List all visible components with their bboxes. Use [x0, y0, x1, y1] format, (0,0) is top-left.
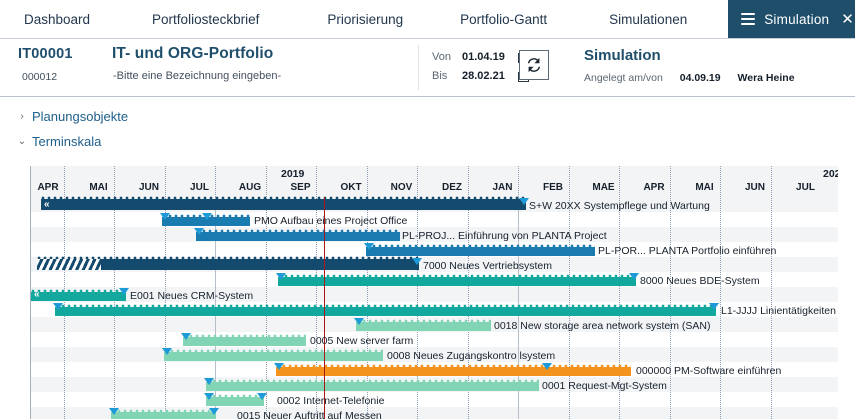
date-from-row: Von 01.04.19 [432, 51, 529, 63]
gantt-row[interactable]: 7000 Neues Vertriebsystem [31, 257, 838, 272]
gantt-bar[interactable] [164, 352, 383, 361]
gantt-row[interactable]: 000000 PM-Software einführen [31, 362, 838, 377]
month-label: JUN [123, 182, 175, 193]
month-label: OKT [325, 182, 377, 193]
portfolio-identity-block: IT00001 IT- und ORG-Portfolio 000012 -Bi… [0, 39, 418, 96]
gantt-bar[interactable] [41, 199, 526, 210]
gantt-row[interactable]: 0001 Request-Mgt-System [31, 377, 838, 392]
gantt-rows[interactable]: «S+W 20XX Systempflege und WartungPMO Au… [31, 197, 838, 419]
created-by: Wera Heine [738, 72, 795, 84]
gantt-time-scale: 20192020APRMAIJUNJULAUGSEPOKTNOVDEZJANFE… [31, 166, 838, 198]
bar-progress-dots [111, 409, 216, 414]
chevron-right-icon: › [16, 111, 28, 122]
gantt-bar[interactable] [206, 397, 264, 406]
gantt-row[interactable]: 8000 Neues BDE-System [31, 272, 838, 287]
gantt-bar-label: 0001 Request-Mgt-System [542, 380, 667, 392]
month-label: FEB [527, 182, 579, 193]
month-label: NOV [376, 182, 428, 193]
today-marker-line [324, 197, 325, 419]
month-label: APR [30, 182, 74, 193]
gantt-row[interactable]: 0008 Neues Zugangskontro lsystem [31, 347, 838, 362]
bar-progress-dots [55, 304, 716, 309]
grid-line [771, 166, 772, 419]
milestone-end-marker [519, 198, 529, 205]
section-planungsobjekte-label: Planungsobjekte [32, 109, 128, 124]
bar-progress-dots [31, 289, 126, 294]
tab-priorisierung[interactable]: Priorisierung [327, 0, 403, 38]
month-label: JUL [780, 182, 832, 193]
created-date: 04.09.19 [680, 72, 721, 84]
gantt-bar-label: S+W 20XX Systempflege und Wartung [529, 200, 710, 212]
tab-simulation-active[interactable]: Simulation ✕ [728, 0, 855, 38]
section-terminskala[interactable]: ⌄ Terminskala [0, 129, 855, 153]
gantt-bar[interactable] [356, 322, 491, 331]
gantt-bar[interactable] [55, 307, 716, 316]
gantt-row[interactable]: «E001 Neues CRM-System [31, 287, 838, 302]
bar-progress-dots [276, 364, 631, 369]
milestone-mid-marker [542, 363, 552, 370]
bar-progress-dots [278, 274, 636, 279]
gantt-bar-label: 0005 New server farm [310, 335, 413, 347]
bar-progress-dots [41, 196, 526, 201]
month-label: MAI [679, 182, 731, 193]
date-to-value[interactable]: 28.02.21 [462, 70, 518, 82]
gantt-row[interactable]: PMO Aufbau eines Project Office [31, 212, 838, 227]
month-label: JUN [729, 182, 781, 193]
month-label: AUG [224, 182, 276, 193]
gantt-bar-label: 8000 Neues BDE-System [640, 275, 760, 287]
gantt-row[interactable]: 0002 Internet-Telefonie [31, 392, 838, 407]
date-to-row: Bis 28.02.21 [432, 70, 529, 82]
top-navigation-bar: Dashboard Portfoliosteckbrief Priorisier… [0, 0, 855, 39]
gantt-bar-label: E001 Neues CRM-System [130, 290, 253, 302]
gantt-row[interactable]: L1-JJJJ Linientätigkeiten JJJJ [31, 302, 838, 317]
milestone-start-marker [204, 393, 214, 400]
section-terminskala-label: Terminskala [32, 134, 101, 149]
milestone-start-marker [160, 213, 170, 220]
gantt-bar[interactable] [31, 292, 126, 301]
year-label: 2020 [823, 168, 838, 180]
milestone-start-marker [274, 363, 284, 370]
milestone-end-marker [119, 288, 129, 295]
date-from-value[interactable]: 01.04.19 [462, 51, 518, 63]
gantt-bar[interactable] [206, 382, 539, 391]
gantt-bar[interactable] [111, 412, 216, 419]
milestone-start-marker [53, 303, 63, 310]
milestone-end-marker [257, 393, 267, 400]
tab-simulationen[interactable]: Simulationen [609, 0, 687, 38]
month-label: JAN [477, 182, 529, 193]
section-planungsobjekte[interactable]: › Planungsobjekte [0, 104, 855, 128]
portfolio-sub-id: 000012 [22, 71, 57, 83]
portfolio-subtitle[interactable]: -Bitte eine Bezeichnung eingeben- [113, 70, 281, 82]
milestone-start-marker [181, 333, 191, 340]
hamburger-menu-icon[interactable] [741, 13, 755, 25]
tab-portfolio-gantt[interactable]: Portfolio-Gantt [460, 0, 547, 38]
month-label: APR [628, 182, 680, 193]
gantt-bar[interactable] [366, 247, 595, 256]
simulation-created-meta: Angelegt am/von 04.09.19 Wera Heine [584, 72, 795, 84]
month-label: SEP [275, 182, 327, 193]
bar-progress-dots [206, 394, 264, 399]
gantt-bar[interactable] [276, 367, 631, 376]
milestone-end-marker [209, 408, 219, 415]
refresh-sync-icon[interactable] [519, 50, 549, 80]
milestone-end-marker [412, 258, 422, 265]
bar-progress-dots [206, 379, 539, 384]
created-label: Angelegt am/von [584, 72, 663, 84]
milestone-start-marker [364, 243, 374, 250]
gantt-bar-label: PMO Aufbau eines Project Office [254, 215, 407, 227]
page-title: IT- und ORG-Portfolio [112, 45, 273, 63]
nav-tab-list: Dashboard Portfoliosteckbrief Priorisier… [0, 0, 687, 38]
gantt-chart[interactable]: 20192020APRMAIJUNJULAUGSEPOKTNOVDEZJANFE… [30, 166, 838, 419]
gantt-row[interactable]: PL-PROJ... Einführung von PLANTA Project [31, 227, 838, 242]
bar-progress-dots [196, 229, 400, 234]
tab-simulation-label: Simulation [764, 12, 829, 27]
month-label: MAE [578, 182, 630, 193]
gantt-bar-label: 0008 Neues Zugangskontro lsystem [387, 350, 555, 362]
gantt-bar-label: 0018 New storage area network system (SA… [494, 320, 711, 332]
close-icon[interactable]: ✕ [841, 12, 854, 27]
scroll-back-icon[interactable]: « [44, 199, 48, 210]
milestone-start-marker [162, 348, 172, 355]
year-label: 2019 [281, 168, 304, 180]
gantt-row[interactable]: «S+W 20XX Systempflege und Wartung [31, 197, 838, 212]
scroll-back-icon[interactable]: « [34, 289, 38, 300]
date-to-label: Bis [432, 70, 462, 82]
month-label: JUL [174, 182, 226, 193]
gantt-bar-label: PL-POR... PLANTA Portfolio einführen [598, 245, 776, 257]
tab-dashboard[interactable]: Dashboard [24, 0, 90, 38]
gantt-bar-label: 0002 Internet-Telefonie [277, 395, 384, 407]
gantt-row[interactable]: PL-POR... PLANTA Portfolio einführen [31, 242, 838, 257]
bar-progress-dots [356, 319, 491, 324]
milestone-end-marker [629, 273, 639, 280]
month-label: DEZ [426, 182, 478, 193]
gantt-bar-label: 7000 Neues Vertriebsystem [423, 260, 552, 272]
gantt-bar-label: PL-PROJ... Einführung von PLANTA Project [402, 230, 607, 242]
gantt-bar-label: 0015 Neuer Auftritt auf Messen [237, 410, 382, 419]
portfolio-id: IT00001 [18, 46, 73, 62]
gantt-row[interactable]: 0018 New storage area network system (SA… [31, 317, 838, 332]
milestone-start-marker [276, 273, 286, 280]
gantt-bar[interactable] [278, 277, 636, 286]
milestone-start-marker [109, 408, 119, 415]
bar-progress-dots [366, 244, 595, 249]
gantt-bar-label: L1-JJJJ Linientätigkeiten JJJJ [721, 305, 838, 317]
gantt-bar-label: 000000 PM-Software einführen [636, 365, 781, 377]
simulation-title: Simulation [584, 47, 661, 64]
grid-line [720, 166, 721, 419]
bar-progress-dots [164, 349, 383, 354]
bar-hatched-segment [37, 259, 101, 270]
portfolio-header-panel: IT00001 IT- und ORG-Portfolio 000012 -Bi… [0, 39, 855, 97]
date-from-label: Von [432, 51, 462, 63]
chevron-down-icon: ⌄ [16, 136, 28, 147]
milestone-mid-marker [202, 213, 212, 220]
milestone-end-marker [709, 303, 719, 310]
milestone-start-marker [194, 228, 204, 235]
gantt-bar[interactable] [183, 337, 306, 346]
simulation-info-block: Von 01.04.19 Bis 28.02.21 Simulation Ang… [419, 39, 855, 96]
gantt-row[interactable]: 0015 Neuer Auftritt auf Messen [31, 407, 838, 419]
month-label: MAI [73, 182, 125, 193]
tab-portfoliosteckbrief[interactable]: Portfoliosteckbrief [152, 0, 259, 38]
milestone-start-marker [204, 378, 214, 385]
milestone-start-marker [354, 318, 364, 325]
gantt-bar[interactable] [196, 232, 400, 241]
gantt-row[interactable]: 0005 New server farm [31, 332, 838, 347]
bar-progress-dots [183, 334, 306, 339]
